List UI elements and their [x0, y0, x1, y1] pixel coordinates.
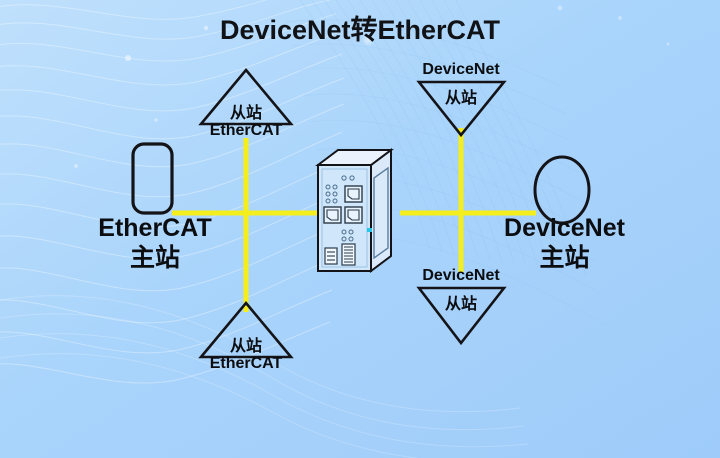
page-title: DeviceNet转EtherCAT	[0, 8, 720, 47]
diagram-canvas: DeviceNet转EtherCAT EtherCAT 主站 DeviceNet…	[0, 0, 720, 458]
devicenet-master-label-primary: DeviceNet	[492, 214, 637, 242]
gateway-status-led	[367, 228, 372, 232]
ethercat-master-label-secondary: 主站	[85, 244, 225, 272]
ethercat-slave-top-inner-label: 从站	[206, 99, 286, 123]
ethercat-master-label-primary: EtherCAT	[85, 214, 225, 242]
gateway-device-shape[interactable]	[318, 150, 391, 271]
devicenet-slave-bottom-inner-label: 从站	[421, 290, 501, 314]
devicenet-slave-bottom-outer-label: DeviceNet	[411, 267, 511, 285]
ethercat-slave-bottom-outer-label: EtherCAT	[196, 355, 296, 373]
devicenet-master-label-secondary: 主站	[492, 244, 637, 272]
ethercat-slave-bottom-inner-label: 从站	[206, 332, 286, 356]
ethercat-slave-top-outer-label: EtherCAT	[196, 122, 296, 140]
devicenet-slave-top-inner-label: 从站	[421, 84, 501, 108]
ethercat-master-shape[interactable]	[133, 144, 172, 213]
devicenet-slave-top-outer-label: DeviceNet	[411, 61, 511, 79]
